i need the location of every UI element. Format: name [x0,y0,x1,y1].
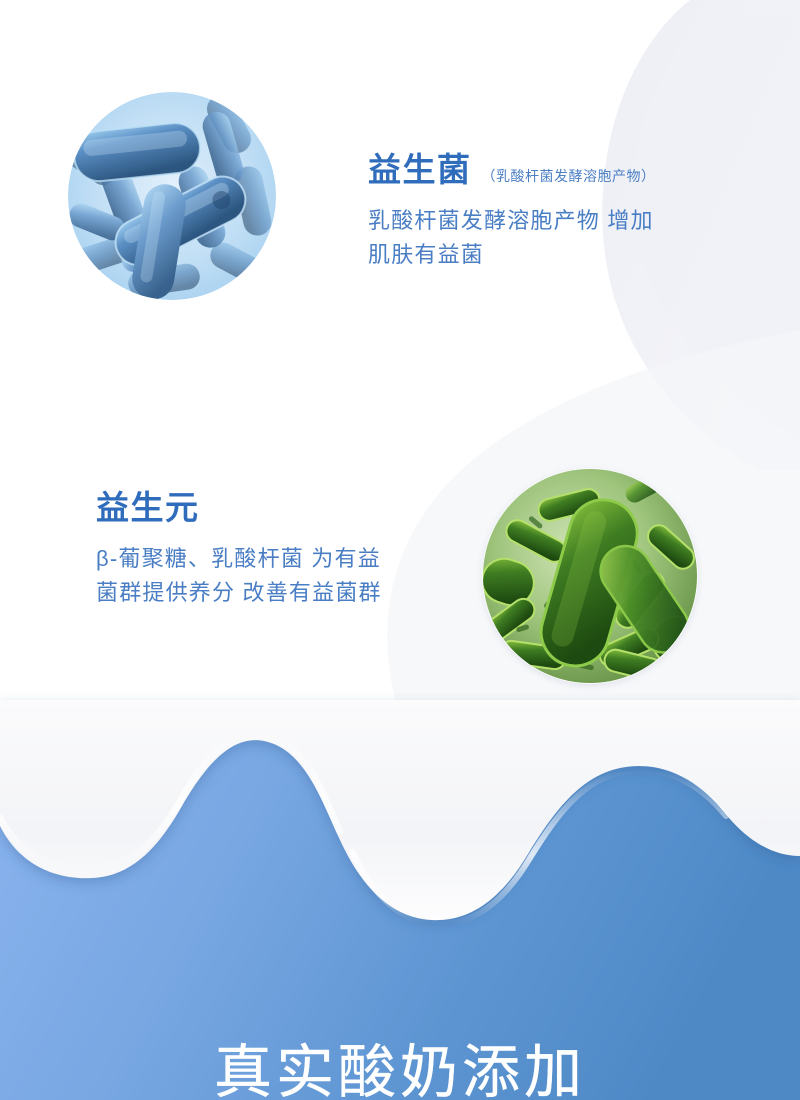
probiotic-headline: 益生菌 [368,152,472,188]
prebiotic-headline: 益生元 [96,490,200,526]
prebiotic-body: β-葡聚糖、乳酸杆菌 为有益 菌群提供养分 改善有益菌群 [96,542,476,609]
probiotic-text-block: 益生菌 （乳酸杆菌发酵溶胞产物） 乳酸杆菌发酵溶胞产物 增加 肌肤有益菌 [368,152,768,271]
probiotic-body: 乳酸杆菌发酵溶胞产物 增加 肌肤有益菌 [368,204,768,271]
prebiotic-headline-row: 益生元 [96,490,476,526]
probiotic-body-line-1: 乳酸杆菌发酵溶胞产物 增加 [368,204,768,237]
prebiotic-text-block: 益生元 β-葡聚糖、乳酸杆菌 为有益 菌群提供养分 改善有益菌群 [96,490,476,609]
probiotic-body-line-2: 肌肤有益菌 [368,238,768,271]
bacteria-rods-blue-icon [68,92,276,300]
bacteria-rods-green-icon [482,468,698,684]
probiotic-headline-note: （乳酸杆菌发酵溶胞产物） [482,166,656,186]
product-detail-page: 益生菌 （乳酸杆菌发酵溶胞产物） 乳酸杆菌发酵溶胞产物 增加 肌肤有益菌 益生元… [0,0,800,1100]
prebiotic-body-line-1: β-葡聚糖、乳酸杆菌 为有益 [96,542,476,575]
probiotic-image [68,92,276,300]
probiotic-headline-row: 益生菌 （乳酸杆菌发酵溶胞产物） [368,152,768,188]
prebiotic-image [482,468,698,684]
prebiotic-body-line-2: 菌群提供养分 改善有益菌群 [96,576,476,609]
bottom-banner-headline: 真实酸奶添加 [0,1044,800,1100]
